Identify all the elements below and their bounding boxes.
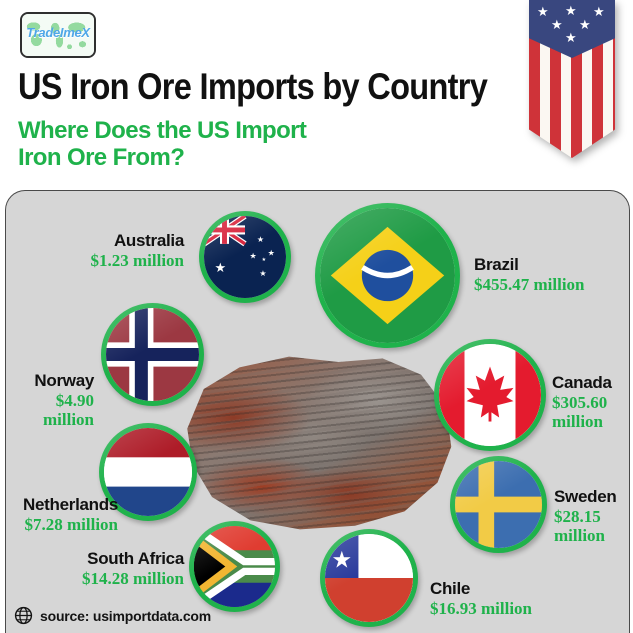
canada-flag-icon xyxy=(439,344,541,446)
country-name-canada: Canada xyxy=(552,373,612,393)
star-icon: ★ xyxy=(565,31,577,44)
source-text: source: usimportdata.com xyxy=(40,608,211,624)
label-brazil: Brazil $455.47 million xyxy=(474,255,585,294)
country-name-south-africa: South Africa xyxy=(6,549,184,569)
flag-circle-brazil[interactable] xyxy=(315,203,460,348)
label-south-africa: South Africa $14.28 million xyxy=(6,549,184,588)
us-flag-banner-icon: ★ ★ ★ ★ ★ ★ xyxy=(529,0,615,158)
country-value-sweden: $28.15 million xyxy=(554,507,616,545)
svg-text:★: ★ xyxy=(268,248,275,257)
label-sweden: Sweden $28.15 million xyxy=(554,487,616,545)
brand-logo-text: TradeImeX xyxy=(22,25,94,40)
content-panel: Brazil $455.47 million ★ ★ ★ xyxy=(5,190,630,633)
iron-ore-rock-image xyxy=(179,353,454,533)
label-netherlands: Netherlands $7.28 million xyxy=(6,495,118,534)
country-name-chile: Chile xyxy=(430,579,532,599)
country-name-norway: Norway xyxy=(6,371,94,391)
star-icon: ★ xyxy=(593,5,605,18)
svg-text:★: ★ xyxy=(262,257,267,263)
page-title: US Iron Ore Imports by Country xyxy=(18,66,487,108)
label-australia: Australia $1.23 million xyxy=(6,231,184,270)
country-value-south-africa: $14.28 million xyxy=(6,569,184,588)
country-value-australia: $1.23 million xyxy=(6,251,184,270)
flag-circle-canada[interactable] xyxy=(434,339,546,451)
brazil-flag-icon xyxy=(320,208,455,343)
country-value-norway: $4.90 million xyxy=(6,391,94,429)
star-icon: ★ xyxy=(579,18,591,31)
chile-flag-icon: ★ xyxy=(325,534,413,622)
brand-logo[interactable]: TradeImeX xyxy=(20,12,96,58)
svg-text:★: ★ xyxy=(259,269,266,278)
country-value-chile: $16.93 million xyxy=(430,599,532,618)
flag-circle-south-africa[interactable] xyxy=(189,521,280,612)
star-icon: ★ xyxy=(537,5,549,18)
svg-text:★: ★ xyxy=(257,235,264,244)
label-norway: Norway $4.90 million xyxy=(6,371,94,429)
label-canada: Canada $305.60 million xyxy=(552,373,612,431)
country-value-netherlands: $7.28 million xyxy=(6,515,118,534)
flag-circle-sweden[interactable] xyxy=(450,456,547,553)
country-value-brazil: $455.47 million xyxy=(474,275,585,294)
svg-text:★: ★ xyxy=(215,260,227,275)
svg-text:★: ★ xyxy=(250,252,257,261)
svg-text:★: ★ xyxy=(331,546,352,572)
norway-flag-icon xyxy=(106,308,199,401)
flag-circle-norway[interactable] xyxy=(101,303,204,406)
label-chile: Chile $16.93 million xyxy=(430,579,532,618)
country-value-canada: $305.60 million xyxy=(552,393,612,431)
source-footer: source: usimportdata.com xyxy=(14,606,211,625)
infographic-root: TradeImeX US Iron Ore Imports by Country… xyxy=(0,0,633,633)
star-icon: ★ xyxy=(551,18,563,31)
country-name-australia: Australia xyxy=(6,231,184,251)
globe-icon xyxy=(14,606,33,625)
flag-circle-australia[interactable]: ★ ★ ★ ★ ★ ★ xyxy=(199,211,291,303)
sweden-flag-icon xyxy=(455,461,542,548)
australia-flag-icon: ★ ★ ★ ★ ★ ★ xyxy=(204,216,286,298)
flag-circle-chile[interactable]: ★ xyxy=(320,529,418,627)
page-subtitle: Where Does the US Import Iron Ore From? xyxy=(18,118,306,172)
south-africa-flag-icon xyxy=(194,526,275,607)
country-name-brazil: Brazil xyxy=(474,255,585,275)
country-name-sweden: Sweden xyxy=(554,487,616,507)
star-icon: ★ xyxy=(565,4,577,17)
country-name-netherlands: Netherlands xyxy=(6,495,118,515)
